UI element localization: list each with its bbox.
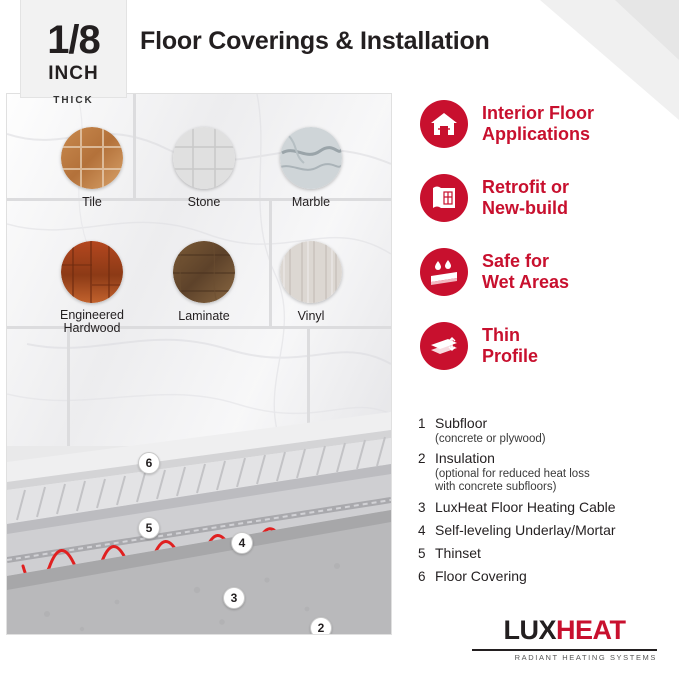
- legend-text-2: Insulation: [435, 450, 495, 467]
- legend-subtext-2: (optional for reduced heat loss with con…: [435, 468, 676, 495]
- legend-text-3: LuxHeat Floor Heating Cable: [435, 499, 616, 516]
- logo-heat-text: HEAT: [556, 615, 626, 646]
- installation-illustration: Tile Stone Marble: [6, 93, 392, 635]
- vinyl-swatch-icon: [280, 241, 342, 303]
- thin-layers-icon: [420, 322, 468, 370]
- grout-line: [269, 198, 272, 326]
- legend-text-5: Thinset: [435, 545, 481, 562]
- legend-number-6: 6: [418, 568, 435, 584]
- logo-divider: [472, 649, 657, 651]
- legend-text-4: Self-leveling Underlay/Mortar: [435, 522, 616, 539]
- legend-row-6: 6 Floor Covering: [418, 568, 676, 585]
- logo-lux-text: LUX: [504, 615, 557, 646]
- marble-swatch-icon: [280, 127, 342, 189]
- badge-thick-label: THICK: [53, 95, 94, 106]
- feature-label-3-line1: Safe for: [482, 251, 569, 272]
- feature-thin-profile: Thin Profile: [420, 322, 538, 370]
- swatch-label-stone: Stone: [144, 195, 264, 209]
- callout-6: 6: [138, 452, 160, 474]
- badge-unit: INCH: [48, 63, 98, 85]
- grout-line: [133, 94, 136, 198]
- feature-safe-for-wet-areas: Safe for Wet Areas: [420, 248, 569, 296]
- badge-fraction: 1/8: [47, 20, 100, 60]
- tile-swatch-icon: [61, 127, 123, 189]
- callout-5: 5: [138, 517, 160, 539]
- engineered-hardwood-swatch-icon: [61, 241, 123, 303]
- legend-row-5: 5 Thinset: [418, 545, 676, 562]
- swatch-label-tile: Tile: [32, 195, 152, 209]
- swatch-label-marble: Marble: [251, 195, 371, 209]
- swatch-label-engineered-hardwood: Engineered Hardwood: [32, 309, 152, 335]
- feature-label-3: Safe for Wet Areas: [482, 248, 569, 293]
- luxheat-logo: LUX HEAT RADIANT HEATING SYSTEMS: [472, 615, 657, 667]
- feature-label-1-line1: Interior Floor: [482, 103, 594, 124]
- laminate-swatch-icon: [173, 241, 235, 303]
- legend-row-3: 3 LuxHeat Floor Heating Cable: [418, 499, 676, 516]
- legend-text-1: Subfloor: [435, 415, 487, 432]
- legend-row-4: 4 Self-leveling Underlay/Mortar: [418, 522, 676, 539]
- feature-label-4-line2: Profile: [482, 346, 538, 367]
- feature-label-2: Retrofit or New-build: [482, 174, 569, 219]
- legend-number-2: 2: [418, 450, 435, 466]
- legend-subtext-2-line1: (optional for reduced heat loss: [435, 468, 676, 482]
- callout-2: 2: [310, 617, 332, 635]
- feature-label-1: Interior Floor Applications: [482, 100, 594, 145]
- layer-legend: 1 Subfloor (concrete or plywood) 2 Insul…: [418, 415, 676, 586]
- stone-swatch-icon: [173, 127, 235, 189]
- feature-label-3-line2: Wet Areas: [482, 272, 569, 293]
- legend-number-4: 4: [418, 522, 435, 538]
- house-icon: [420, 100, 468, 148]
- callout-3: 3: [223, 587, 245, 609]
- page-title: Floor Coverings & Installation: [140, 27, 490, 56]
- legend-subtext-1: (concrete or plywood): [435, 433, 676, 447]
- swatch-label-vinyl: Vinyl: [251, 309, 371, 323]
- legend-number-1: 1: [418, 415, 435, 431]
- infographic-page: 1/8 INCH THICK Floor Coverings & Install…: [0, 0, 679, 679]
- water-drop-floor-icon: [420, 248, 468, 296]
- legend-subtext-2-line2: with concrete subfloors): [435, 481, 676, 495]
- callout-4: 4: [231, 532, 253, 554]
- legend-number-3: 3: [418, 499, 435, 515]
- thickness-badge: 1/8 INCH THICK: [20, 0, 127, 98]
- swatch-label-laminate: Laminate: [144, 309, 264, 323]
- legend-row-1: 1 Subfloor: [418, 415, 676, 432]
- feature-label-2-line1: Retrofit or: [482, 177, 569, 198]
- logo-tagline: RADIANT HEATING SYSTEMS: [472, 653, 657, 662]
- legend-number-5: 5: [418, 545, 435, 561]
- feature-label-2-line2: New-build: [482, 198, 569, 219]
- feature-retrofit-or-new-build: Retrofit or New-build: [420, 174, 569, 222]
- legend-text-6: Floor Covering: [435, 568, 527, 585]
- blueprint-icon: [420, 174, 468, 222]
- feature-label-1-line2: Applications: [482, 124, 594, 145]
- legend-row-2: 2 Insulation: [418, 450, 676, 467]
- feature-interior-floor-applications: Interior Floor Applications: [420, 100, 594, 148]
- feature-label-4-line1: Thin: [482, 325, 538, 346]
- layer-cross-section: [7, 334, 391, 634]
- feature-label-4: Thin Profile: [482, 322, 538, 367]
